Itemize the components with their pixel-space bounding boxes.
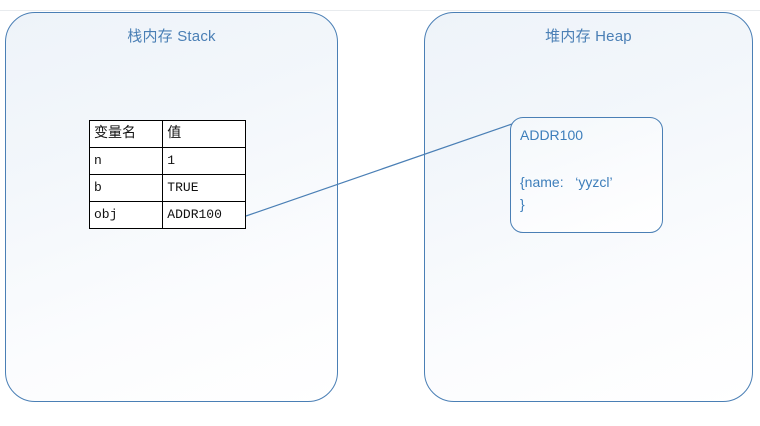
stack-region-title: 栈内存 Stack — [6, 25, 337, 46]
heap-object-closing-brace: } — [520, 196, 525, 212]
heap-object-address: ADDR100 — [520, 127, 583, 143]
table-header-row: 变量名 值 — [90, 121, 246, 148]
top-divider-rule — [0, 10, 760, 11]
cell-variable-name: n — [90, 148, 163, 175]
cell-variable-name: obj — [90, 202, 163, 229]
heap-object-body: {name: ‘yyzcl’ — [520, 174, 613, 190]
heap-object-box: ADDR100 {name: ‘yyzcl’ } — [510, 117, 663, 233]
table-row: obj ADDR100 — [90, 202, 246, 229]
cell-variable-value: ADDR100 — [163, 202, 246, 229]
stack-variable-table: 变量名 值 n 1 b TRUE obj ADDR100 — [89, 120, 246, 229]
header-variable-name: 变量名 — [90, 121, 163, 148]
header-value: 值 — [163, 121, 246, 148]
cell-variable-name: b — [90, 175, 163, 202]
table-row: b TRUE — [90, 175, 246, 202]
cell-variable-value: TRUE — [163, 175, 246, 202]
table-row: n 1 — [90, 148, 246, 175]
diagram-canvas: 栈内存 Stack 变量名 值 n 1 b TRUE obj ADDR100 堆… — [0, 0, 760, 426]
cell-variable-value: 1 — [163, 148, 246, 175]
heap-region-title: 堆内存 Heap — [425, 25, 752, 46]
